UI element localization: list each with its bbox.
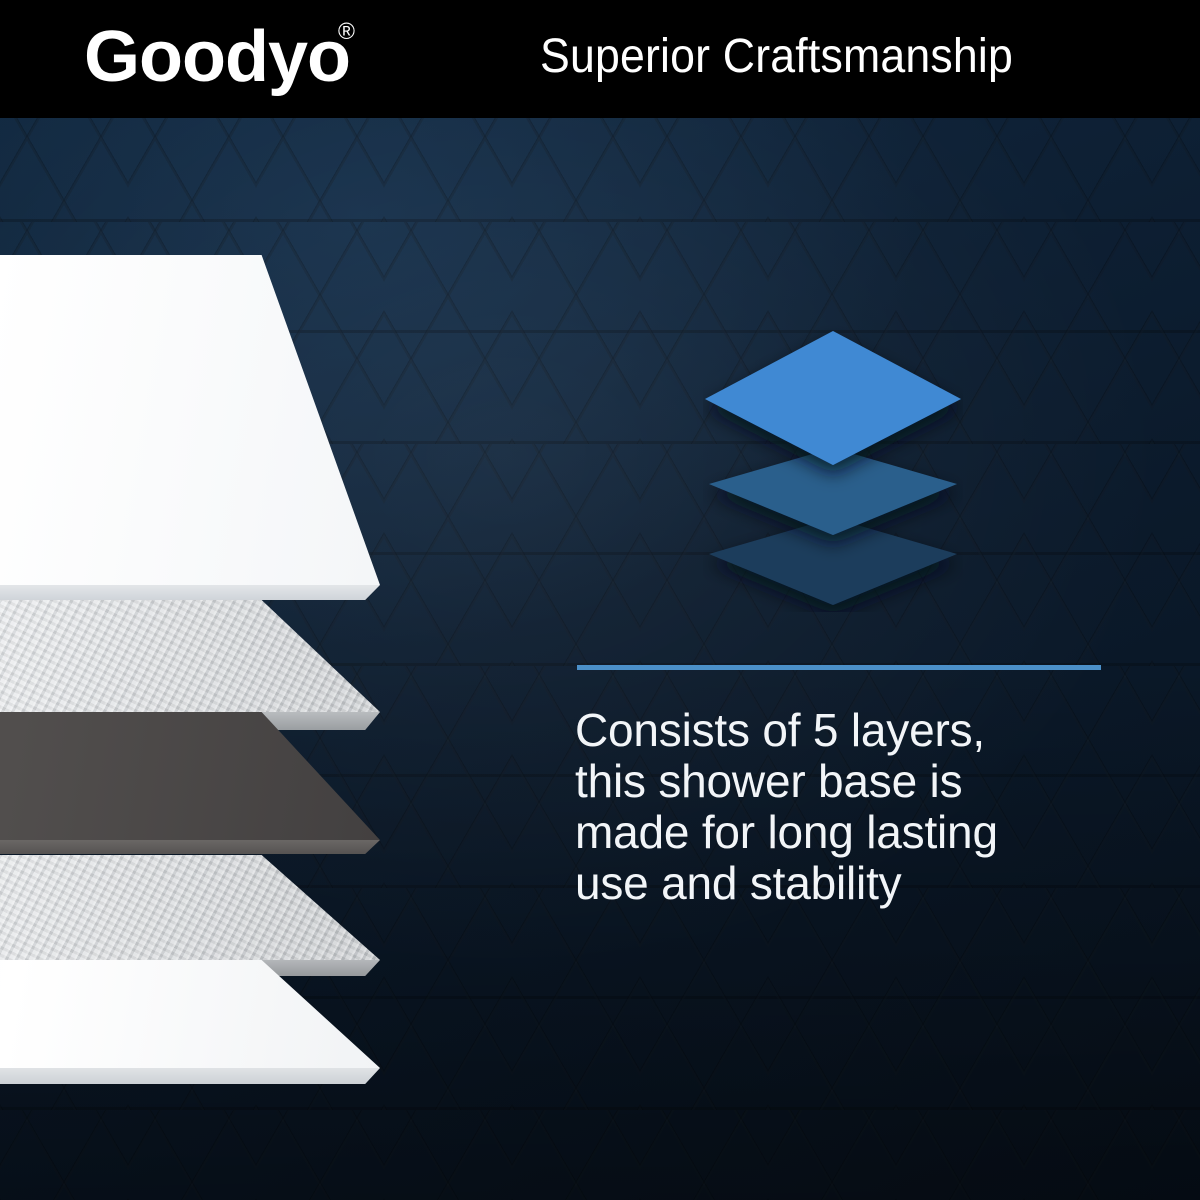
registered-trademark-icon: ® [338,20,355,43]
layer-1-face [0,255,380,585]
brand-logo: Goodyo [84,14,350,100]
layer-5-face [0,960,380,1068]
product-feature-banner: Goodyo ® Superior Craftsmanship [0,0,1200,1200]
layer-3-edge [0,840,380,854]
product-layer-2-textured-gray [0,600,380,712]
layer-2-face [0,600,380,712]
description-line-4: use and stability [575,858,1135,909]
layer-3-face [0,712,380,840]
product-layer-5-white-base [0,960,380,1068]
description-line-1: Consists of 5 layers, [575,705,1135,756]
product-layer-stack [0,255,380,1065]
header-bar: Goodyo ® Superior Craftsmanship [0,0,1200,118]
layer-5-edge [0,1068,380,1084]
layer-diamond-top [705,331,961,465]
product-layer-1-white-top [0,255,380,585]
layer-1-edge [0,585,380,600]
layer-4-face [0,855,380,960]
product-layer-4-textured-gray [0,855,380,960]
layers-icon [703,322,963,612]
feature-description: Consists of 5 layers, this shower base i… [575,705,1135,909]
description-line-2: this shower base is [575,756,1135,807]
section-divider [577,665,1101,670]
product-layer-3-dark-core [0,712,380,840]
description-line-3: made for long lasting [575,807,1135,858]
header-tagline: Superior Craftsmanship [540,26,1013,88]
